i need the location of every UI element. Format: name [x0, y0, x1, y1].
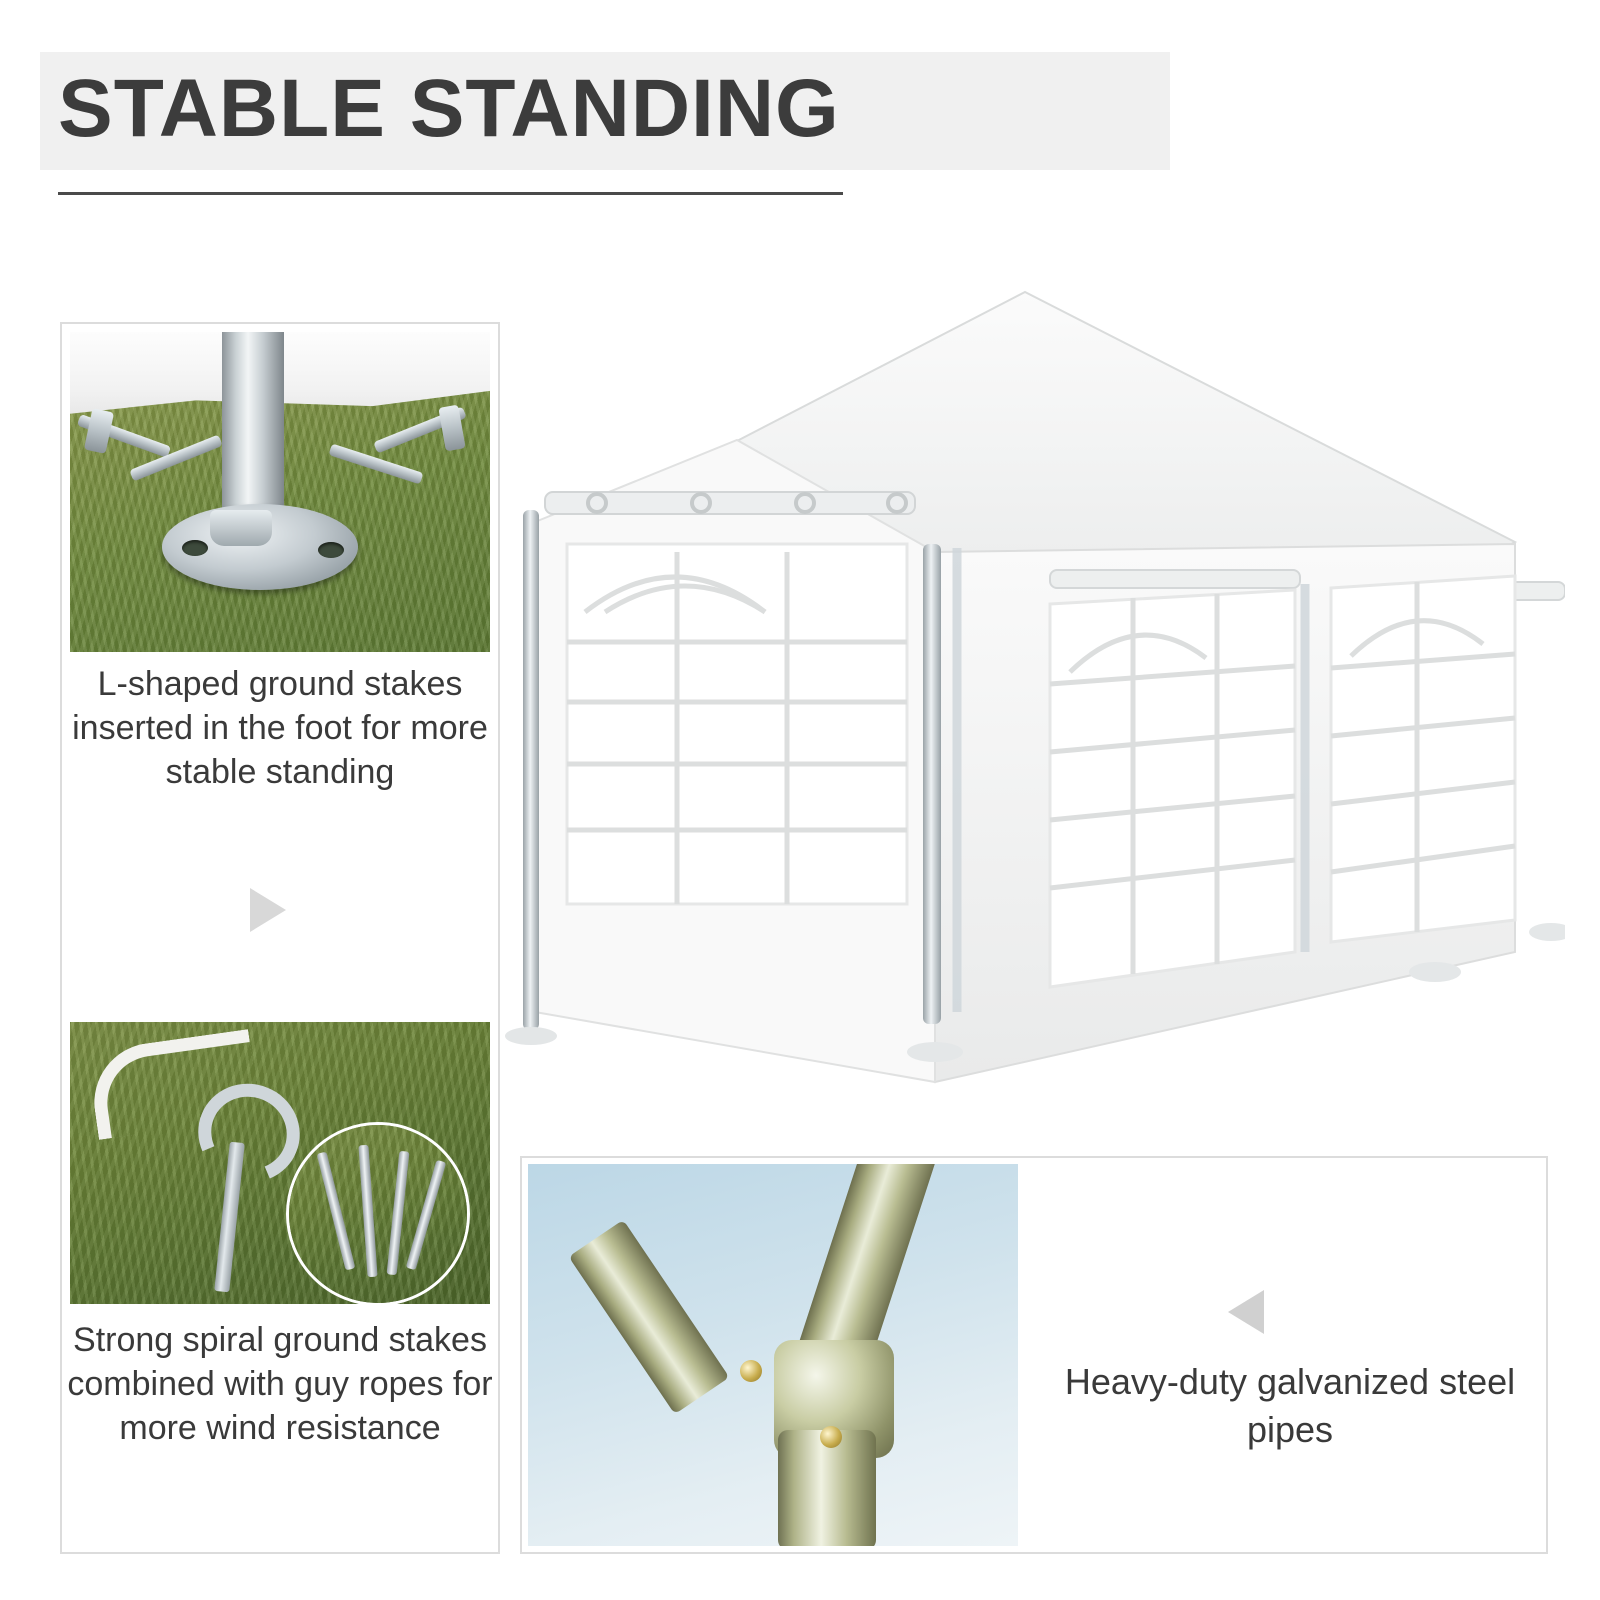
- front-left-foot: [505, 1027, 557, 1045]
- foot-mid: [1409, 962, 1461, 982]
- caption-steel-pipes: Heavy-duty galvanized steel pipes: [1040, 1358, 1540, 1454]
- triangle-right-icon: [250, 888, 286, 932]
- photo-pipe-joint: [528, 1164, 1018, 1546]
- foot-front-right: [907, 1042, 963, 1062]
- photo-ground-stake-foot: [70, 332, 490, 652]
- joint-bolt-lower: [820, 1426, 842, 1448]
- inset-grass: [289, 1125, 467, 1303]
- title-divider: [58, 192, 843, 195]
- triangle-left-icon: [1228, 1290, 1264, 1334]
- side-window-2: [1331, 576, 1515, 942]
- side-window-1: [1050, 590, 1295, 987]
- caption-ground-stakes: L-shaped ground stakes inserted in the f…: [72, 662, 488, 794]
- inset-stake-set: [286, 1122, 470, 1304]
- foot-plate-hole-right: [318, 542, 344, 558]
- caption-spiral-stakes: Strong spiral ground stakes combined wit…: [62, 1318, 498, 1450]
- side-header-bar-1: [1050, 570, 1300, 588]
- front-left-pole: [523, 510, 539, 1030]
- foot-clamp: [210, 510, 272, 546]
- photo-spiral-stake: [70, 1022, 490, 1304]
- product-illustration: [505, 252, 1565, 1152]
- foot-rear: [1529, 923, 1565, 941]
- page-title: STABLE STANDING: [58, 54, 840, 164]
- joint-bolt-upper: [740, 1360, 762, 1382]
- sky-background: [528, 1164, 1018, 1546]
- front-right-pole: [923, 544, 941, 1024]
- foot-plate-hole-left: [182, 540, 208, 556]
